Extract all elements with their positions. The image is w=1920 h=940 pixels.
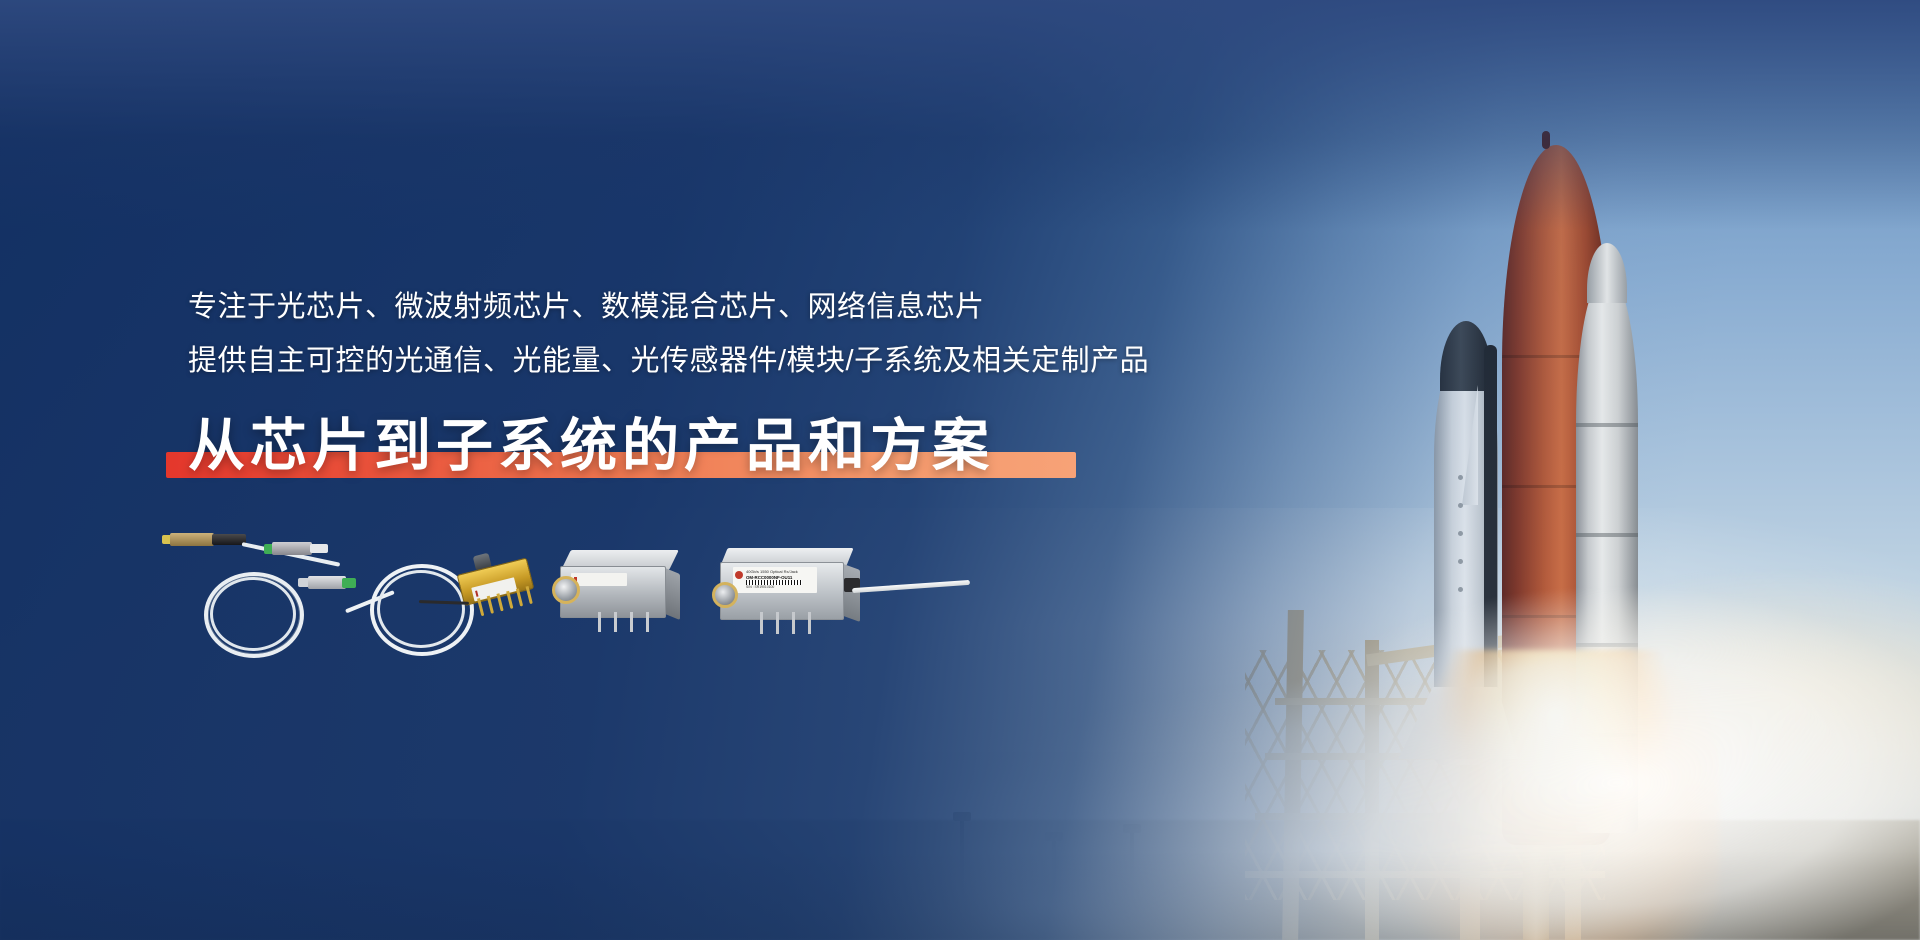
hero-subtitle-line-2: 提供自主可控的光通信、光能量、光传感器件/模块/子系统及相关定制产品 <box>188 334 1308 388</box>
hero-subtitle-line-1: 专注于光芯片、微波射频芯片、数模混合芯片、网络信息芯片 <box>188 280 1308 334</box>
module-label-line-1: 40Gb/s 1550 Optical Rx/Jack <box>746 569 798 574</box>
brand-logo-icon <box>735 571 743 579</box>
module-label-line-3: S/N : SR19010100 <box>746 585 774 589</box>
product-image-row: 40Gb/s 1550 Optical Rx/Jack OM-RCC0000NF… <box>160 528 920 658</box>
bottom-fade <box>0 850 1920 940</box>
top-gradient-overlay <box>0 0 1920 230</box>
butterfly-laser-package <box>455 550 536 617</box>
rf-metal-module <box>560 550 680 624</box>
optical-receiver-module: 40Gb/s 1550 Optical Rx/Jack OM-RCC0000NF… <box>720 548 870 634</box>
hero-headline: 从芯片到子系统的产品和方案 <box>188 410 994 482</box>
module-label-line-2: OM-RCC0000NF-OU11 <box>746 575 792 580</box>
hero-copy-block: 专注于光芯片、微波射频芯片、数模混合芯片、网络信息芯片 提供自主可控的光通信、光… <box>188 280 1308 482</box>
homepage-hero-banner: 专注于光芯片、微波射频芯片、数模混合芯片、网络信息芯片 提供自主可控的光通信、光… <box>0 0 1920 940</box>
module-product-label: 40Gb/s 1550 Optical Rx/Jack OM-RCC0000NF… <box>733 567 817 593</box>
hero-headline-wrapper: 从芯片到子系统的产品和方案 <box>188 410 994 482</box>
